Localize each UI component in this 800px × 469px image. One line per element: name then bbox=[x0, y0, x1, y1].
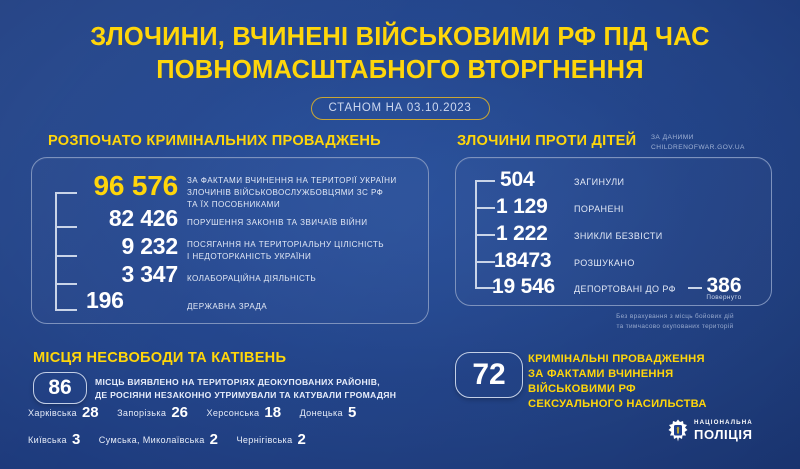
stat-value: 196 bbox=[86, 287, 124, 314]
page-title-line1: ЗЛОЧИНИ, ВЧИНЕНІ ВІЙСЬКОВИМИ РФ ПІД ЧАС bbox=[90, 23, 709, 51]
stat-label-line1: ЗА ФАКТАМИ ВЧИНЕННЯ НА ТЕРИТОРІЇ УКРАЇНИ bbox=[187, 176, 397, 185]
stat-value: 9 232 bbox=[121, 233, 178, 260]
stat-value: 3 347 bbox=[121, 261, 178, 288]
stat-value: 82 426 bbox=[109, 205, 178, 232]
children-footnote-line1: Без врахування з місць бойових дій bbox=[616, 313, 734, 320]
stat-row: 9 232 bbox=[78, 234, 178, 260]
children-footnote: Без врахування з місць бойових дій та ти… bbox=[575, 312, 775, 332]
stat-label: РОЗШУКАНО bbox=[574, 257, 635, 271]
stat-value: 18473 bbox=[494, 249, 551, 273]
bracket-tick bbox=[55, 309, 77, 311]
stat-label-line3: ТА ЇХ ПОСОБНИКАМИ bbox=[187, 200, 280, 209]
bracket-tick bbox=[475, 180, 495, 182]
stat-value: 96 576 bbox=[94, 170, 178, 202]
infographic-root: ЗЛОЧИНИ, ВЧИНЕНІ ВІЙСЬКОВИМИ РФ ПІД ЧАС … bbox=[0, 0, 800, 469]
stat-label-block: ДЕПОРТОВАНІ ДО РФ bbox=[574, 283, 676, 297]
stat-label-line2: ЗЛОЧИНІВ ВІЙСЬКОВОСЛУЖБОВЦЯМИ ЗС РФ bbox=[187, 188, 383, 197]
stat-label-block: ДЕРЖАВНА ЗРАДА bbox=[187, 301, 417, 313]
stat-label: КОЛАБОРАЦІЙНА ДІЯЛЬНІСТЬ bbox=[187, 273, 417, 285]
stat-row: 1 222 bbox=[496, 222, 565, 246]
region-name: Херсонська bbox=[206, 408, 259, 418]
national-police-logo: НАЦІОНАЛЬНА ПОЛІЦІЯ bbox=[668, 419, 753, 442]
page-title-line2: ПОВНОМАСШТАБНОГО ВТОРГНЕННЯ bbox=[0, 55, 800, 86]
returned-connector-line bbox=[688, 287, 702, 289]
bracket-tick bbox=[475, 261, 495, 263]
sexual-violence-line2: ЗА ФАКТАМИ ВЧИНЕННЯ bbox=[528, 368, 673, 380]
region-value: 3 bbox=[72, 431, 80, 448]
date-badge: СТАНОМ НА 03.10.2023 bbox=[311, 97, 490, 120]
logo-text: НАЦІОНАЛЬНА ПОЛІЦІЯ bbox=[694, 420, 753, 441]
region-name: Сумська, Миколаївська bbox=[99, 435, 205, 445]
stat-label-line2: І НЕДОТОРКАНІСТЬ УКРАЇНИ bbox=[187, 252, 311, 261]
bracket-tick bbox=[55, 192, 77, 194]
regions-row: Харківська28 Запорізька26 Херсонська18 Д… bbox=[28, 404, 438, 431]
stat-row: 1 129 bbox=[496, 195, 565, 219]
region-value: 2 bbox=[210, 431, 218, 448]
bracket-tick bbox=[55, 283, 77, 285]
children-footnote-line2: та тимчасово окупованих територій bbox=[616, 323, 733, 330]
stat-value: 504 bbox=[500, 168, 534, 192]
region-name: Запорізька bbox=[117, 408, 166, 418]
stat-row: 18473 bbox=[496, 249, 565, 273]
section-title-criminal-proceedings: РОЗПОЧАТО КРИМІНАЛЬНИХ ПРОВАДЖЕНЬ bbox=[48, 133, 381, 149]
stat-row: 19 546 bbox=[496, 275, 565, 299]
stat-label: ПОСЯГАННЯ НА ТЕРИТОРІАЛЬНУ ЦІЛІСНІСТЬ І … bbox=[187, 239, 417, 263]
stat-label-line1: КОЛАБОРАЦІЙНА ДІЯЛЬНІСТЬ bbox=[187, 274, 316, 283]
detention-description-line1: МІСЦЬ ВИЯВЛЕНО НА ТЕРИТОРІЯХ ДЕОКУПОВАНИ… bbox=[95, 377, 380, 387]
stat-label: ЗА ФАКТАМИ ВЧИНЕННЯ НА ТЕРИТОРІЇ УКРАЇНИ… bbox=[187, 175, 417, 211]
regions-list: Харківська28 Запорізька26 Херсонська18 Д… bbox=[28, 404, 438, 458]
region-name: Київська bbox=[28, 435, 67, 445]
region-item: Чернігівська2 bbox=[236, 431, 319, 449]
police-emblem-icon bbox=[668, 419, 688, 442]
stat-row: 3 347 bbox=[78, 262, 178, 288]
stat-value: 19 546 bbox=[492, 275, 555, 299]
header: ЗЛОЧИНИ, ВЧИНЕНІ ВІЙСЬКОВИМИ РФ ПІД ЧАС … bbox=[0, 22, 800, 120]
stat-label: ДЕПОРТОВАНІ ДО РФ bbox=[574, 283, 676, 297]
region-item: Сумська, Миколаївська2 bbox=[99, 431, 232, 449]
stat-label: ЗНИКЛИ БЕЗВІСТИ bbox=[574, 230, 663, 244]
sexual-violence-line3: ВІЙСЬКОВИМИ РФ bbox=[528, 383, 636, 395]
stat-label-block: ПОРУШЕННЯ ЗАКОНІВ ТА ЗВИЧАЇВ ВІЙНИ bbox=[187, 217, 417, 229]
page-title: ЗЛОЧИНИ, ВЧИНЕНІ ВІЙСЬКОВИМИ РФ ПІД ЧАС … bbox=[0, 22, 800, 85]
bracket-criminal-proceedings bbox=[55, 192, 77, 310]
region-item: Херсонська18 bbox=[206, 404, 295, 422]
stat-row: 96 576 bbox=[78, 172, 178, 202]
region-name: Чернігівська bbox=[236, 435, 292, 445]
region-value: 2 bbox=[297, 431, 305, 448]
stat-label-block: ЗАГИНУЛИ bbox=[574, 176, 624, 190]
stat-row: 196 bbox=[78, 288, 178, 314]
stat-value: 1 222 bbox=[496, 222, 548, 246]
detention-description: МІСЦЬ ВИЯВЛЕНО НА ТЕРИТОРІЯХ ДЕОКУПОВАНИ… bbox=[95, 376, 440, 402]
sexual-violence-description: КРИМІНАЛЬНІ ПРОВАДЖЕННЯ ЗА ФАКТАМИ ВЧИНЕ… bbox=[528, 352, 793, 412]
detention-description-line2: ДЕ РОСІЯНИ НЕЗАКОННО УТРИМУВАЛИ ТА КАТУВ… bbox=[95, 390, 396, 400]
region-name: Донецька bbox=[300, 408, 343, 418]
stat-label-block: ПОРАНЕНІ bbox=[574, 203, 624, 217]
sexual-violence-line1: КРИМІНАЛЬНІ ПРОВАДЖЕННЯ bbox=[528, 353, 705, 365]
stat-label-block: ПОСЯГАННЯ НА ТЕРИТОРІАЛЬНУ ЦІЛІСНІСТЬ І … bbox=[187, 239, 417, 263]
stat-label-line1: ПОРУШЕННЯ ЗАКОНІВ ТА ЗВИЧАЇВ ВІЙНИ bbox=[187, 218, 368, 227]
stat-label: ЗАГИНУЛИ bbox=[574, 176, 624, 190]
badge-sexual-violence-value: 72 bbox=[472, 358, 505, 392]
stat-label-block: КОЛАБОРАЦІЙНА ДІЯЛЬНІСТЬ bbox=[187, 273, 417, 285]
badge-detention-count: 86 bbox=[33, 372, 87, 404]
stat-label: ДЕРЖАВНА ЗРАДА bbox=[187, 301, 417, 313]
region-item: Харківська28 bbox=[28, 404, 113, 422]
stat-label-block: РОЗШУКАНО bbox=[574, 257, 635, 271]
bracket-tick bbox=[55, 226, 77, 228]
region-value: 26 bbox=[171, 404, 188, 421]
region-item: Запорізька26 bbox=[117, 404, 202, 422]
source-note: ЗА ДАНИМИ CHILDRENOFWAR.GOV.UA bbox=[651, 133, 745, 152]
sexual-violence-line4: СЕКСУАЛЬНОГО НАСИЛЬСТВА bbox=[528, 398, 707, 410]
stat-label-line1: ПОСЯГАННЯ НА ТЕРИТОРІАЛЬНУ ЦІЛІСНІСТЬ bbox=[187, 240, 384, 249]
returned-caption: Повернуто bbox=[702, 294, 746, 301]
stat-label: ПОРАНЕНІ bbox=[574, 203, 624, 217]
region-name: Харківська bbox=[28, 408, 77, 418]
stat-label-block: ЗА ФАКТАМИ ВЧИНЕННЯ НА ТЕРИТОРІЇ УКРАЇНИ… bbox=[187, 175, 417, 211]
bracket-tick bbox=[55, 255, 77, 257]
stat-label-block: ЗНИКЛИ БЕЗВІСТИ bbox=[574, 230, 663, 244]
source-note-line1: ЗА ДАНИМИ bbox=[651, 134, 694, 141]
bracket-spine bbox=[55, 192, 57, 310]
bracket-tick bbox=[475, 207, 495, 209]
stat-row: 504 bbox=[496, 168, 565, 192]
logo-line1: НАЦІОНАЛЬНА bbox=[694, 420, 753, 426]
region-item: Київська3 bbox=[28, 431, 94, 449]
stat-label: ПОРУШЕННЯ ЗАКОНІВ ТА ЗВИЧАЇВ ВІЙНИ bbox=[187, 217, 417, 229]
bracket-crimes-against-children bbox=[475, 180, 495, 288]
stat-value: 1 129 bbox=[496, 195, 548, 219]
region-value: 18 bbox=[264, 404, 281, 421]
region-value: 5 bbox=[348, 404, 356, 421]
stat-label-line1: ДЕРЖАВНА ЗРАДА bbox=[187, 302, 267, 311]
regions-row: Київська3 Сумська, Миколаївська2 Чернігі… bbox=[28, 431, 438, 458]
badge-detention-value: 86 bbox=[48, 376, 71, 400]
section-title-crimes-against-children: ЗЛОЧИНИ ПРОТИ ДІТЕЙ bbox=[457, 133, 636, 149]
stat-row: 82 426 bbox=[78, 206, 178, 232]
bracket-tick bbox=[475, 234, 495, 236]
badge-sexual-violence-count: 72 bbox=[455, 352, 523, 398]
source-note-line2: CHILDRENOFWAR.GOV.UA bbox=[651, 144, 745, 151]
region-value: 28 bbox=[82, 404, 99, 421]
region-item: Донецька5 bbox=[300, 404, 371, 422]
section-title-detention-places: МІСЦЯ НЕСВОБОДИ ТА КАТІВЕНЬ bbox=[33, 350, 286, 366]
logo-line2: ПОЛІЦІЯ bbox=[694, 428, 753, 441]
